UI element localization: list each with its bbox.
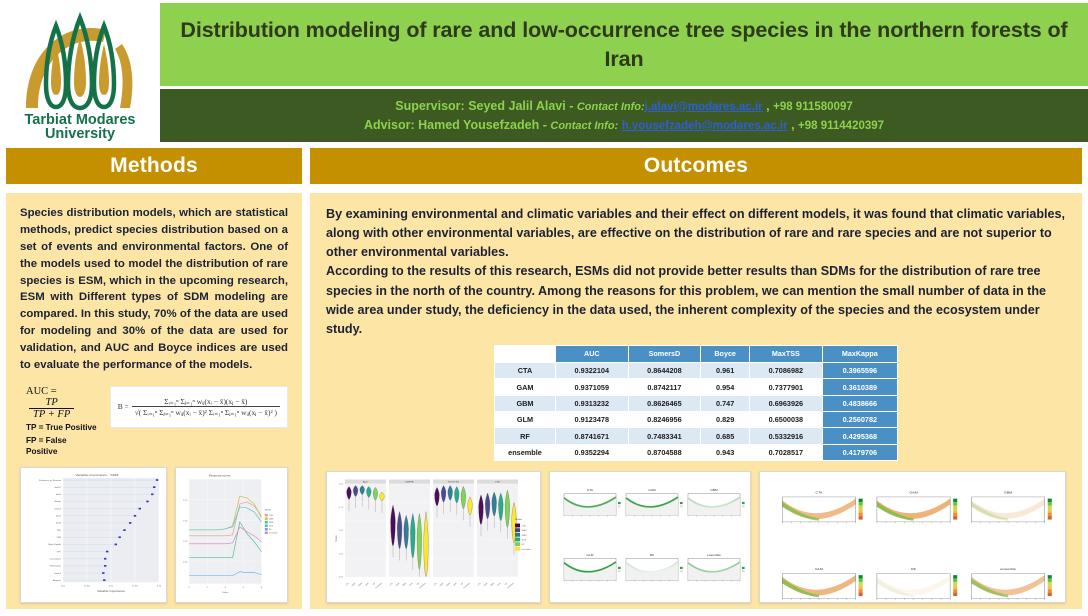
results-cell-maxkappa: 0.3610389	[822, 379, 897, 395]
results-cell-auc: 0.9322104	[556, 362, 629, 378]
svg-text:1.0: 1.0	[157, 584, 162, 587]
outcomes-paragraph-1: By examining environmental and climatic …	[326, 205, 1066, 262]
table-row[interactable]: ensemble0.93522940.87045880.9430.7028517…	[495, 444, 898, 460]
supervisor-dash: -	[569, 99, 573, 113]
supervisor-email-link[interactable]: j.alavi@modares.ac.ir	[645, 101, 763, 113]
svg-text:TPI: TPI	[57, 551, 61, 553]
rc-chart-title: Response curves	[209, 474, 231, 478]
suitability-curve-panels-chart[interactable]: CTAGAMGBMGLMRFensemble	[549, 471, 751, 603]
results-row-model: RF	[495, 428, 556, 444]
outcomes-paragraph-2: According to the results of this researc…	[326, 262, 1066, 339]
logo-text-line2: University	[45, 126, 115, 142]
results-cell-auc: 0.9371059	[556, 379, 629, 395]
svg-text:ensemble: ensemble	[269, 533, 278, 535]
results-row-model: GBM	[495, 395, 556, 411]
results-cell-boyce: 0.961	[701, 362, 750, 378]
results-cell-auc: 0.9313232	[556, 395, 629, 411]
svg-text:0.5: 0.5	[109, 584, 114, 587]
advisor-phone: +98 9114420397	[798, 120, 884, 132]
boyce-lhs: B =	[118, 402, 129, 411]
table-row[interactable]: CTA0.93221040.86442080.9610.70869820.396…	[495, 362, 898, 378]
svg-text:Elevation: Elevation	[50, 565, 62, 567]
supervisor-role: Supervisor:	[395, 99, 464, 113]
svg-text:GAM: GAM	[522, 530, 527, 533]
results-col-auc[interactable]: AUC	[556, 345, 629, 362]
results-cell-maxtss: 0.5332916	[750, 428, 823, 444]
results-col-somersd[interactable]: SomersD	[628, 345, 701, 362]
variable-importance-chart[interactable]: Variable importance - SDM Distance to St…	[20, 467, 167, 603]
auc-denominator: TP + FP	[29, 408, 74, 420]
svg-text:TRI: TRI	[57, 530, 62, 532]
svg-text:bio12: bio12	[55, 509, 62, 511]
boyce-fraction: Σᵢ₌₁ⁿ Σⱼ₌₁ⁿ wᵢⱼ(xᵢ − x̄)(xⱼ − x̄) √( Σᵢ₌…	[132, 397, 280, 417]
results-cell-boyce: 0.943	[701, 444, 750, 460]
svg-text:Model: Model	[515, 519, 523, 522]
svg-text:0.0: 0.0	[61, 584, 66, 587]
results-cell-maxtss: 0.7086982	[750, 362, 823, 378]
svg-text:AUC: AUC	[363, 481, 369, 484]
outcomes-heading-label: Outcomes	[644, 154, 748, 178]
svg-text:GBM: GBM	[522, 535, 527, 537]
results-cell-auc: 0.8741671	[556, 428, 629, 444]
svg-text:GBM: GBM	[269, 522, 274, 524]
results-cell-somersd: 0.8742117	[628, 379, 701, 395]
vi-xlabel: Variable importance	[97, 590, 126, 593]
violin-svg: AUCCTAGAMGBMGLMRFensembleKAPPACTAGAMGBMG…	[327, 472, 540, 602]
results-cell-auc: 0.9123478	[556, 412, 629, 428]
results-col-boyce[interactable]: Boyce	[701, 345, 750, 362]
advisor-contact-line: Advisor: Hamed Yousefzadeh - Contact Inf…	[364, 116, 884, 135]
boyce-numerator: Σᵢ₌₁ⁿ Σⱼ₌₁ⁿ wᵢⱼ(xᵢ − x̄)(xⱼ − x̄)	[161, 397, 250, 406]
table-row[interactable]: GBM0.93132320.86264650.7470.69639260.483…	[495, 395, 898, 411]
table-row[interactable]: GLM0.91234780.82469560.8290.65000380.256…	[495, 412, 898, 428]
svg-text:bio3: bio3	[56, 494, 62, 496]
results-row-model: GAM	[495, 379, 556, 395]
formula-row: AUC = TP TP + FP TP = True Positive FP =…	[20, 386, 288, 457]
outcomes-panel: By examining environmental and climatic …	[310, 193, 1082, 609]
auc-formula: AUC = TP TP + FP TP = True Positive FP =…	[20, 386, 100, 457]
boyce-formula-box: B = Σᵢ₌₁ⁿ Σⱼ₌₁ⁿ wᵢⱼ(xᵢ − x̄)(xⱼ − x̄) √(…	[110, 386, 288, 428]
variable-importance-svg: Variable importance - SDM Distance to St…	[21, 468, 166, 602]
results-table-header-row: AUC SomersD Boyce MaxTSS MaxKappa	[495, 345, 898, 362]
results-table[interactable]: AUC SomersD Boyce MaxTSS MaxKappa CTA0.9…	[494, 345, 898, 461]
svg-text:GAM: GAM	[909, 491, 918, 495]
results-cell-maxtss: 0.7028517	[750, 444, 823, 460]
svg-text:TWI: TWI	[56, 537, 61, 539]
outcomes-figures: AUCCTAGAMGBMGLMRFensembleKAPPACTAGAMGBMG…	[326, 471, 1066, 603]
svg-text:ensemble: ensemble	[522, 549, 532, 551]
boyce-formula: B = Σᵢ₌₁ⁿ Σⱼ₌₁ⁿ wᵢⱼ(xᵢ − x̄)(xⱼ − x̄) √(…	[118, 397, 280, 417]
svg-text:CTA: CTA	[587, 489, 593, 493]
advisor-name: Hamed Yousefzadeh	[418, 118, 539, 132]
auc-formula-lhs: AUC =	[26, 386, 57, 397]
results-cell-maxkappa: 0.4295368	[822, 428, 897, 444]
svg-text:RF: RF	[650, 554, 654, 558]
svg-text:GBM: GBM	[710, 489, 718, 493]
svg-text:ensemble: ensemble	[707, 554, 721, 558]
results-cell-maxkappa: 0.4179706	[822, 444, 897, 460]
results-row-model: GLM	[495, 412, 556, 428]
svg-text:TSS: TSS	[495, 482, 500, 484]
svg-text:CTA: CTA	[815, 491, 823, 495]
violin-ylabel: Score	[334, 535, 338, 542]
svg-text:GLM: GLM	[269, 526, 274, 528]
svg-text:KAPPA: KAPPA	[405, 481, 414, 484]
svg-text:bio15: bio15	[55, 487, 62, 489]
svg-text:Distance to Stream: Distance to Stream	[39, 479, 61, 481]
table-row[interactable]: GAM0.93710590.87421170.9540.73779010.361…	[495, 379, 898, 395]
supervisor-comma: ,	[766, 99, 769, 113]
svg-text:ensemble: ensemble	[1000, 568, 1016, 572]
university-logo: Tarbiat Modares University	[0, 0, 160, 145]
auc-legend-tp: TP = True Positive	[26, 422, 100, 433]
logo-arch-right-icon	[115, 44, 132, 108]
vi-chart-title: Variable importance - SDM	[76, 473, 119, 476]
results-cell-auc: 0.9352294	[556, 444, 629, 460]
poster-header: Tarbiat Modares University Distribution …	[0, 0, 1088, 145]
advisor-role: Advisor:	[364, 118, 415, 132]
poster-columns: Species distribution models, which are s…	[0, 193, 1088, 609]
results-cell-maxkappa: 0.2560782	[822, 412, 897, 428]
results-cell-boyce: 0.747	[701, 395, 750, 411]
svg-text:GLM: GLM	[522, 540, 527, 542]
outcomes-body-text: By examining environmental and climatic …	[326, 205, 1066, 339]
results-cell-boyce: 0.954	[701, 379, 750, 395]
results-cell-maxtss: 0.7377901	[750, 379, 823, 395]
svg-text:RF: RF	[911, 568, 916, 572]
distribution-maps-chart[interactable]: CTAGAMGBMGLMRFensemble	[759, 471, 1066, 603]
maps-svg: CTAGAMGBMGLMRFensemble	[760, 472, 1065, 602]
results-col-maxkappa[interactable]: MaxKappa	[822, 345, 897, 362]
methods-section-header: Methods	[6, 148, 302, 184]
suitability-svg: CTAGAMGBMGLMRFensemble	[550, 472, 750, 602]
response-curves-chart[interactable]: Response curves 0.750.50 0.250	[175, 467, 288, 603]
results-cell-somersd: 0.7483341	[628, 428, 701, 444]
svg-text:bio14: bio14	[55, 573, 62, 575]
boyce-denominator: √( Σᵢ₌₁ⁿ Σⱼ₌₁ⁿ wᵢⱼ(xᵢ − x̄)² Σᵢ₌₁ⁿ Σⱼ₌₁ⁿ…	[132, 406, 280, 417]
title-band: Distribution modeling of rare and low-oc…	[160, 3, 1088, 86]
results-cell-maxkappa: 0.3965596	[822, 362, 897, 378]
methods-body-text: Species distribution models, which are s…	[20, 205, 288, 374]
svg-text:Aspect: Aspect	[53, 579, 61, 581]
header-text-block: Distribution modeling of rare and low-oc…	[160, 0, 1088, 145]
svg-text:0.75: 0.75	[132, 584, 138, 587]
results-row-model: CTA	[495, 362, 556, 378]
svg-text:bio4: bio4	[56, 523, 62, 525]
auc-fraction: TP TP + FP	[29, 397, 74, 420]
svg-text:GAM: GAM	[269, 518, 274, 521]
response-curves-svg: Response curves 0.750.50 0.250	[176, 468, 287, 602]
results-col-corner	[495, 345, 556, 362]
advisor-dash: -	[543, 118, 547, 132]
svg-text:Model: Model	[265, 509, 272, 511]
advisor-contact-label: Contact Info:	[550, 120, 618, 132]
supervisor-contact-line: Supervisor: Seyed Jalil Alavi - Contact …	[395, 97, 853, 116]
supervisor-name: Seyed Jalil Alavi	[468, 99, 566, 113]
results-row-model: ensemble	[495, 444, 556, 460]
svg-text:Curvature: Curvature	[50, 558, 62, 560]
rc-xlabel: Value	[222, 592, 229, 594]
outcomes-section-header: Outcomes	[310, 148, 1082, 184]
advisor-email-link[interactable]: h.yousefzadeh@modares.ac.ir	[622, 120, 788, 132]
svg-text:Max Depth: Max Depth	[48, 543, 61, 545]
supervisor-contact-label: Contact Info:	[577, 101, 645, 113]
results-table-body: CTA0.93221040.86442080.9610.70869820.396…	[495, 362, 898, 460]
results-cell-somersd: 0.8704588	[628, 444, 701, 460]
results-cell-maxkappa: 0.4838666	[822, 395, 897, 411]
svg-text:bio1: bio1	[56, 516, 62, 518]
svg-text:ROC/TSS: ROC/TSS	[448, 482, 460, 484]
results-cell-somersd: 0.8246956	[628, 412, 701, 428]
svg-text:GAM: GAM	[648, 489, 656, 493]
svg-text:GLM: GLM	[587, 554, 595, 558]
section-heading-bars: Methods Outcomes	[0, 148, 1088, 184]
methods-figures: Variable importance - SDM Distance to St…	[20, 467, 288, 603]
page-title: Distribution modeling of rare and low-oc…	[174, 16, 1074, 73]
svg-text:CTA: CTA	[522, 525, 527, 528]
svg-text:0.25: 0.25	[84, 584, 90, 587]
auc-legend-fp: FP = False Positive	[26, 435, 100, 457]
results-cell-maxtss: 0.6500038	[750, 412, 823, 428]
svg-text:Slope: Slope	[54, 501, 62, 503]
results-cell-somersd: 0.8644208	[628, 362, 701, 378]
results-cell-maxtss: 0.6963926	[750, 395, 823, 411]
advisor-comma: ,	[791, 118, 794, 132]
methods-heading-label: Methods	[110, 154, 198, 178]
methods-panel: Species distribution models, which are s…	[6, 193, 302, 609]
table-row[interactable]: RF0.87416710.74833410.6850.53329160.4295…	[495, 428, 898, 444]
results-cell-boyce: 0.685	[701, 428, 750, 444]
auc-numerator: TP	[41, 397, 61, 408]
supervisor-phone: +98 911580097	[773, 101, 853, 113]
results-cell-somersd: 0.8626465	[628, 395, 701, 411]
svg-text:GLM: GLM	[815, 568, 823, 572]
model-evaluation-violin-chart[interactable]: AUCCTAGAMGBMGLMRFensembleKAPPACTAGAMGBMG…	[326, 471, 541, 603]
results-table-wrapper: AUC SomersD Boyce MaxTSS MaxKappa CTA0.9…	[326, 345, 1066, 461]
logo-graphic: Tarbiat Modares University	[10, 4, 150, 142]
contact-band: Supervisor: Seyed Jalil Alavi - Contact …	[160, 89, 1088, 142]
results-col-maxtss[interactable]: MaxTSS	[750, 345, 823, 362]
svg-text:GBM: GBM	[1004, 491, 1013, 495]
results-cell-boyce: 0.829	[701, 412, 750, 428]
